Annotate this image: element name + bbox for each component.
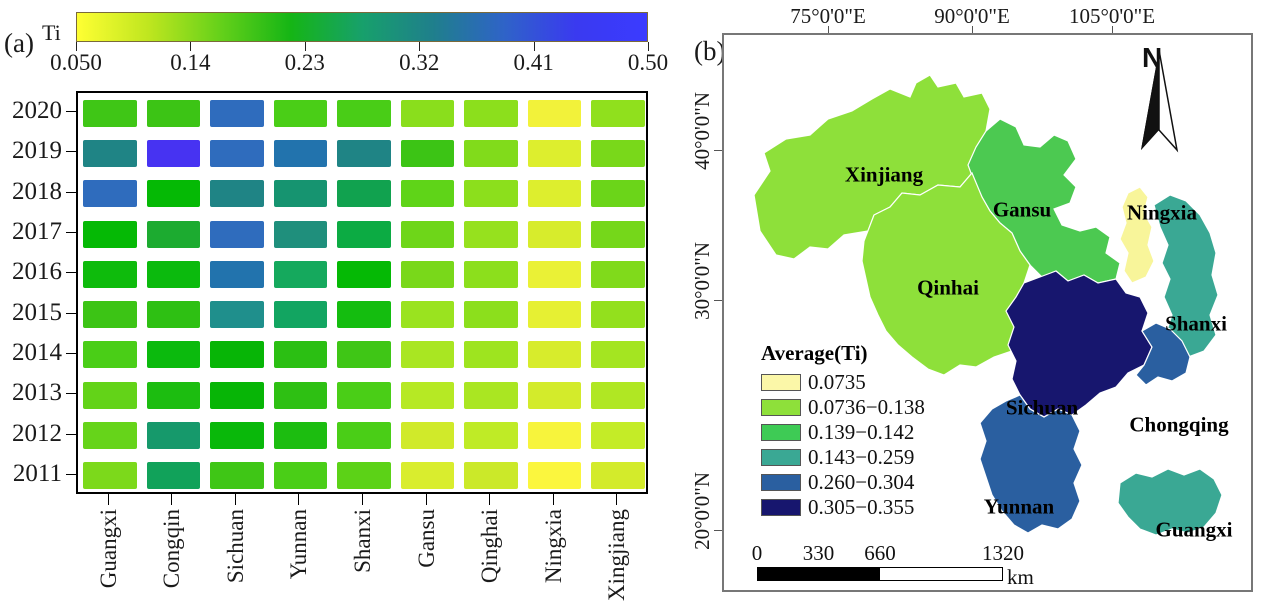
heatmap-cell	[528, 140, 582, 167]
map-legend-swatch	[761, 499, 801, 516]
heatmap-cell	[83, 221, 137, 248]
map-legend-title: Average(Ti)	[761, 341, 951, 366]
heatmap-cell	[337, 422, 391, 449]
map-legend-swatch	[761, 424, 801, 441]
heatmap-cell	[591, 221, 645, 248]
heatmap-cell	[210, 382, 264, 409]
panel-a-heatmap: (a) Ti 0.0500.140.230.320.410.50 2020201…	[0, 0, 660, 602]
heatmap-cell	[274, 100, 328, 127]
heatmap-cell	[147, 140, 201, 167]
heatmap-cell	[147, 180, 201, 207]
heatmap-x-tick	[298, 494, 299, 505]
heatmap-cell	[210, 341, 264, 368]
heatmap-cell	[210, 100, 264, 127]
heatmap-y-tick	[66, 313, 76, 314]
heatmap-y-tick	[66, 192, 76, 193]
colorbar-tick-labels: 0.0500.140.230.320.410.50	[0, 50, 724, 76]
map-scalebar-tick-label: 330	[803, 541, 835, 566]
heatmap-cell	[401, 100, 455, 127]
heatmap-cell	[591, 422, 645, 449]
heatmap-x-label: Gansu	[414, 509, 440, 568]
heatmap-cell	[464, 462, 518, 489]
heatmap-cell	[83, 382, 137, 409]
colorbar-gradient	[76, 12, 648, 42]
heatmap-cell	[83, 462, 137, 489]
heatmap-x-label: Yunnan	[286, 509, 312, 579]
heatmap-cell	[464, 100, 518, 127]
heatmap-cell	[147, 462, 201, 489]
map-latitude-tick	[714, 530, 722, 531]
map-legend-label: 0.260−0.304	[808, 470, 914, 495]
heatmap-x-label: Ningxia	[541, 509, 567, 583]
heatmap-y-label: 2020	[0, 97, 62, 125]
map-legend-swatch	[761, 449, 801, 466]
heatmap-cell	[147, 221, 201, 248]
heatmap-cell	[83, 261, 137, 288]
heatmap-cell	[401, 422, 455, 449]
heatmap-cell	[210, 301, 264, 328]
heatmap-cell	[337, 180, 391, 207]
heatmap-cell	[274, 462, 328, 489]
heatmap-cell	[337, 341, 391, 368]
map-legend-swatch	[761, 374, 801, 391]
heatmap-cell	[83, 301, 137, 328]
figure-root: (a) Ti 0.0500.140.230.320.410.50 2020201…	[0, 0, 1267, 602]
heatmap-y-tick	[66, 474, 76, 475]
heatmap-x-tick	[235, 494, 236, 505]
heatmap-cell	[401, 341, 455, 368]
heatmap-cell	[528, 100, 582, 127]
map-legend-entry: 0.0736−0.138	[761, 395, 951, 420]
heatmap-x-label: Xingjiang	[604, 509, 630, 601]
heatmap-cell	[401, 180, 455, 207]
heatmap-cell	[147, 100, 201, 127]
heatmap-y-label: 2016	[0, 258, 62, 286]
heatmap-x-tick	[489, 494, 490, 505]
heatmap-cell	[528, 301, 582, 328]
heatmap-x-tick	[616, 494, 617, 505]
heatmap-cell	[591, 261, 645, 288]
heatmap-x-tick	[362, 494, 363, 505]
heatmap-cell	[464, 140, 518, 167]
heatmap-y-label: 2012	[0, 420, 62, 448]
heatmap-cell	[147, 341, 201, 368]
colorbar	[76, 12, 648, 42]
heatmap-y-tick	[66, 272, 76, 273]
heatmap-x-label: Congqin	[159, 509, 185, 588]
heatmap-cell	[83, 180, 137, 207]
heatmap-cell	[464, 180, 518, 207]
heatmap-cell	[274, 221, 328, 248]
map-legend-entries: 0.07350.0736−0.1380.139−0.1420.143−0.259…	[761, 370, 951, 520]
heatmap-cell	[83, 422, 137, 449]
heatmap-x-label: Guangxi	[96, 509, 122, 588]
heatmap-cell	[591, 341, 645, 368]
heatmap-cell	[464, 382, 518, 409]
heatmap-cell	[528, 422, 582, 449]
heatmap-cell	[210, 221, 264, 248]
heatmap-cell	[591, 382, 645, 409]
heatmap-cell	[83, 140, 137, 167]
map-province-label: Yunnan	[984, 495, 1054, 520]
heatmap-cell	[210, 422, 264, 449]
colorbar-tick-label: 0.23	[285, 50, 325, 76]
map-legend-entry: 0.0735	[761, 370, 951, 395]
map-province-label: Qinhai	[917, 276, 979, 301]
heatmap-y-label: 2017	[0, 218, 62, 246]
heatmap-x-tick	[426, 494, 427, 505]
heatmap-cell	[591, 180, 645, 207]
map-legend-label: 0.0735	[808, 370, 866, 395]
heatmap-y-label: 2018	[0, 178, 62, 206]
heatmap-y-tick	[66, 232, 76, 233]
heatmap-x-label: Qinghai	[477, 509, 503, 583]
heatmap-cell	[83, 341, 137, 368]
heatmap-cell	[464, 422, 518, 449]
heatmap-cell	[337, 462, 391, 489]
map-latitude-label: 20°0'0"N	[690, 472, 715, 550]
heatmap-x-tick	[553, 494, 554, 505]
map-legend-entry: 0.260−0.304	[761, 470, 951, 495]
heatmap-cell	[337, 221, 391, 248]
heatmap-cell	[528, 382, 582, 409]
heatmap-cell	[401, 140, 455, 167]
map-legend-label: 0.305−0.355	[808, 495, 914, 520]
heatmap-cell	[210, 140, 264, 167]
heatmap-y-tick	[66, 151, 76, 152]
heatmap-cell	[147, 261, 201, 288]
map-legend-swatch	[761, 399, 801, 416]
map-legend-swatch	[761, 474, 801, 491]
heatmap-cell	[528, 261, 582, 288]
heatmap-cell	[464, 221, 518, 248]
heatmap-cell	[83, 100, 137, 127]
heatmap-cell	[401, 261, 455, 288]
heatmap-cell	[401, 221, 455, 248]
heatmap-cell	[528, 462, 582, 489]
heatmap-y-label: 2011	[0, 460, 62, 488]
heatmap-y-tick	[66, 111, 76, 112]
heatmap-cell	[274, 140, 328, 167]
map-legend-label: 0.143−0.259	[808, 445, 914, 470]
heatmap-cell	[464, 261, 518, 288]
heatmap-cell	[274, 341, 328, 368]
map-province-label: Ningxia	[1127, 201, 1197, 226]
heatmap-cell	[337, 140, 391, 167]
map-legend-entry: 0.143−0.259	[761, 445, 951, 470]
heatmap-cell	[274, 301, 328, 328]
map-province-label: Xinjiang	[845, 163, 923, 188]
heatmap-y-label: 2013	[0, 379, 62, 407]
heatmap-y-label: 2014	[0, 339, 62, 367]
heatmap-cell	[274, 422, 328, 449]
map-legend-label: 0.0736−0.138	[808, 395, 925, 420]
panel-b-label: (b)	[694, 36, 725, 67]
map-province-label: Chongqing	[1129, 413, 1228, 438]
heatmap-cell	[147, 382, 201, 409]
map-legend-label: 0.139−0.142	[808, 420, 914, 445]
heatmap-cell	[528, 221, 582, 248]
map-province-label: Guangxi	[1155, 518, 1232, 543]
heatmap-y-axis: 2020201920182017201620152014201320122011	[0, 0, 62, 602]
heatmap-cell	[591, 140, 645, 167]
heatmap-cell	[401, 301, 455, 328]
heatmap-cell	[337, 100, 391, 127]
map-scalebar-tick-label: 660	[864, 541, 896, 566]
heatmap-cell	[210, 462, 264, 489]
map-scalebar-filled	[758, 568, 880, 580]
map-latitude-tick	[714, 150, 722, 151]
heatmap-cell	[464, 301, 518, 328]
map-legend-entry: 0.139−0.142	[761, 420, 951, 445]
heatmap-cell	[401, 462, 455, 489]
north-arrow-icon	[1137, 44, 1181, 156]
colorbar-tick-label: 0.41	[513, 50, 553, 76]
map-latitude-tick	[714, 300, 722, 301]
map-latitude-label: 40°0'0"N	[690, 92, 715, 170]
map-scalebar-empty	[880, 568, 1002, 580]
heatmap-y-tick	[66, 393, 76, 394]
heatmap-y-tick	[66, 353, 76, 354]
heatmap-cell	[274, 261, 328, 288]
heatmap-cell	[147, 301, 201, 328]
map-latitude-label: 30°0'0"N	[690, 242, 715, 320]
heatmap-cell	[464, 341, 518, 368]
heatmap-cell	[591, 100, 645, 127]
map-legend: Average(Ti) 0.07350.0736−0.1380.139−0.14…	[761, 341, 951, 520]
heatmap-x-label: Sichuan	[223, 509, 249, 583]
map-scalebar: 03306601320 km	[757, 541, 1019, 591]
heatmap-x-label: Shanxi	[350, 509, 376, 573]
heatmap-cell	[591, 301, 645, 328]
map-scalebar-bar	[757, 567, 1003, 581]
heatmap-cell	[337, 382, 391, 409]
heatmap-x-tick	[171, 494, 172, 505]
heatmap-cell	[528, 341, 582, 368]
colorbar-tick-label: 0.14	[170, 50, 210, 76]
heatmap-cell	[591, 462, 645, 489]
heatmap-x-tick	[108, 494, 109, 505]
heatmap-cell	[337, 261, 391, 288]
heatmap-cell	[528, 180, 582, 207]
map-province-label: Gansu	[993, 198, 1051, 223]
heatmap-y-tick	[66, 434, 76, 435]
heatmap-y-label: 2015	[0, 299, 62, 327]
heatmap-cell	[274, 382, 328, 409]
map-scalebar-unit: km	[1007, 565, 1034, 590]
heatmap-plot-area	[76, 91, 648, 494]
heatmap-cell	[210, 180, 264, 207]
map-province-label: Shanxi	[1165, 312, 1227, 337]
heatmap-y-label: 2019	[0, 137, 62, 165]
heatmap-cell	[337, 301, 391, 328]
heatmap-cell	[401, 382, 455, 409]
heatmap-cell	[147, 422, 201, 449]
colorbar-tick-label: 0.32	[399, 50, 439, 76]
map-scalebar-tick-label: 0	[752, 541, 763, 566]
map-province-label: Sichuan	[1006, 396, 1078, 421]
heatmap-cell	[210, 261, 264, 288]
heatmap-cell	[274, 180, 328, 207]
map-legend-entry: 0.305−0.355	[761, 495, 951, 520]
map-scalebar-tick-label: 1320	[982, 541, 1024, 566]
